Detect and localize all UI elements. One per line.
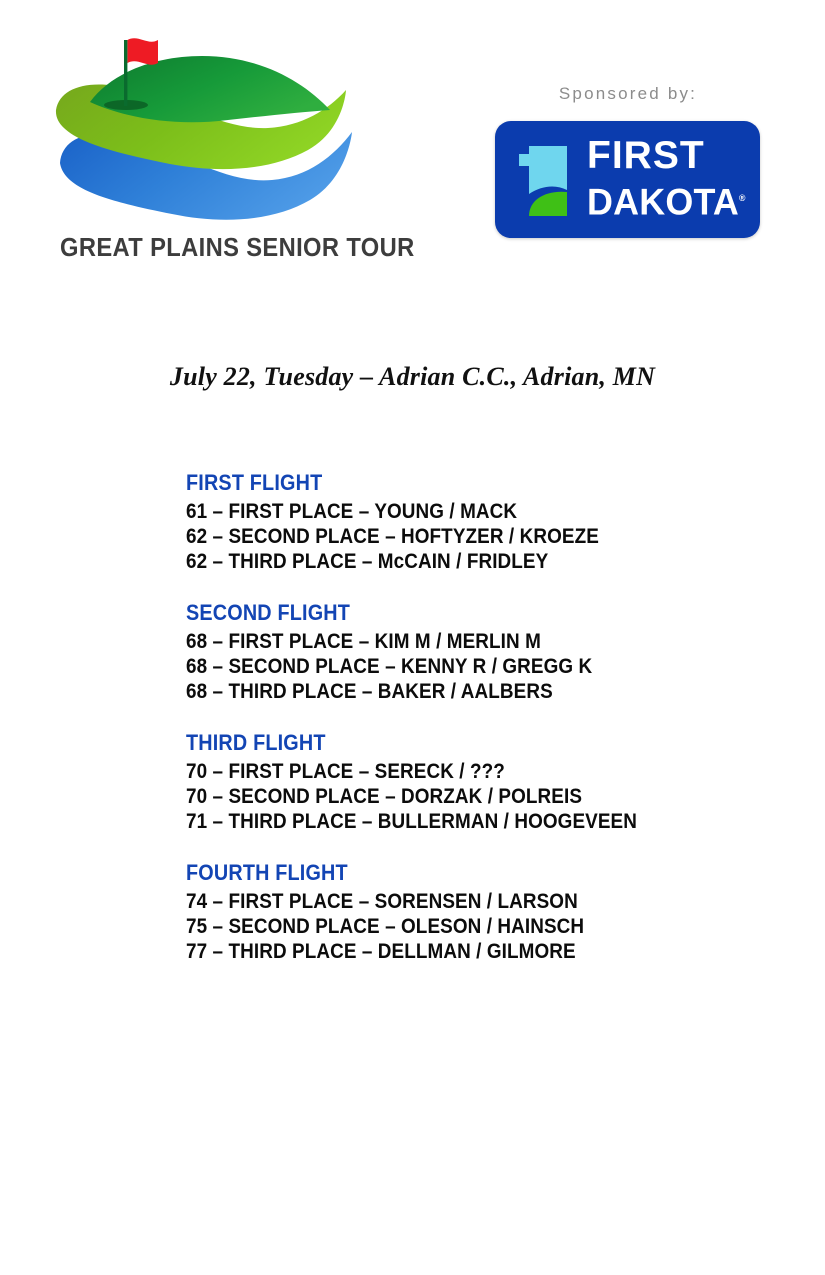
flight-entry-list: 68 – FIRST PLACE – KIM M / MERLIN M 68 –… bbox=[186, 629, 746, 704]
flight-entry: 77 – THIRD PLACE – DELLMAN / GILMORE bbox=[186, 939, 690, 964]
flight-title: FIRST FLIGHT bbox=[186, 470, 690, 496]
flight-section: FIRST FLIGHT 61 – FIRST PLACE – YOUNG / … bbox=[186, 470, 746, 574]
flight-entry-list: 74 – FIRST PLACE – SORENSEN / LARSON 75 … bbox=[186, 889, 746, 964]
flight-results: FIRST FLIGHT 61 – FIRST PLACE – YOUNG / … bbox=[186, 470, 746, 964]
flight-entry: 68 – FIRST PLACE – KIM M / MERLIN M bbox=[186, 629, 690, 654]
flight-title: SECOND FLIGHT bbox=[186, 600, 690, 626]
flight-entry-list: 70 – FIRST PLACE – SERECK / ??? 70 – SEC… bbox=[186, 759, 746, 834]
flight-entry: 68 – THIRD PLACE – BAKER / AALBERS bbox=[186, 679, 690, 704]
flight-entry: 62 – SECOND PLACE – HOFTYZER / KROEZE bbox=[186, 524, 690, 549]
flight-entry: 70 – FIRST PLACE – SERECK / ??? bbox=[186, 759, 690, 784]
wordmark-first: FIRST bbox=[587, 135, 705, 177]
registered-trademark-icon: ® bbox=[739, 193, 745, 203]
golf-course-swoosh-icon bbox=[52, 28, 372, 233]
first-dakota-mark-icon bbox=[517, 138, 579, 222]
flight-entry: 68 – SECOND PLACE – KENNY R / GREGG K bbox=[186, 654, 690, 679]
flight-entry: 75 – SECOND PLACE – OLESON / HAINSCH bbox=[186, 914, 690, 939]
wordmark-dakota: DAKOTA® bbox=[587, 177, 745, 223]
flight-entry: 61 – FIRST PLACE – YOUNG / MACK bbox=[186, 499, 690, 524]
first-dakota-wordmark: FIRST DAKOTA® bbox=[587, 135, 747, 227]
flight-title: FOURTH FLIGHT bbox=[186, 860, 690, 886]
event-date-venue: July 22, Tuesday – Adrian C.C., Adrian, … bbox=[0, 362, 825, 392]
sponsor-block: Sponsored by: FIRST DAKOTA® bbox=[490, 84, 770, 104]
flight-entry: 70 – SECOND PLACE – DORZAK / POLREIS bbox=[186, 784, 690, 809]
flight-entry: 71 – THIRD PLACE – BULLERMAN / HOOGEVEEN bbox=[186, 809, 690, 834]
tour-wordmark: GREAT PLAINS SENIOR TOUR bbox=[60, 236, 367, 262]
flight-entry: 62 – THIRD PLACE – McCAIN / FRIDLEY bbox=[186, 549, 690, 574]
flight-section: THIRD FLIGHT 70 – FIRST PLACE – SERECK /… bbox=[186, 730, 746, 834]
first-dakota-logo: FIRST DAKOTA® bbox=[495, 121, 760, 238]
flight-section: FOURTH FLIGHT 74 – FIRST PLACE – SORENSE… bbox=[186, 860, 746, 964]
wordmark-dakota-text: DAKOTA bbox=[587, 181, 739, 222]
flight-entry-list: 61 – FIRST PLACE – YOUNG / MACK 62 – SEC… bbox=[186, 499, 746, 574]
tour-logo: GREAT PLAINS SENIOR TOUR bbox=[52, 28, 392, 278]
results-page: GREAT PLAINS SENIOR TOUR Sponsored by: F… bbox=[0, 0, 825, 1275]
flight-title: THIRD FLIGHT bbox=[186, 730, 690, 756]
flight-entry: 74 – FIRST PLACE – SORENSEN / LARSON bbox=[186, 889, 690, 914]
flight-section: SECOND FLIGHT 68 – FIRST PLACE – KIM M /… bbox=[186, 600, 746, 704]
sponsored-by-label: Sponsored by: bbox=[492, 84, 764, 104]
page-header: GREAT PLAINS SENIOR TOUR Sponsored by: F… bbox=[0, 0, 825, 300]
